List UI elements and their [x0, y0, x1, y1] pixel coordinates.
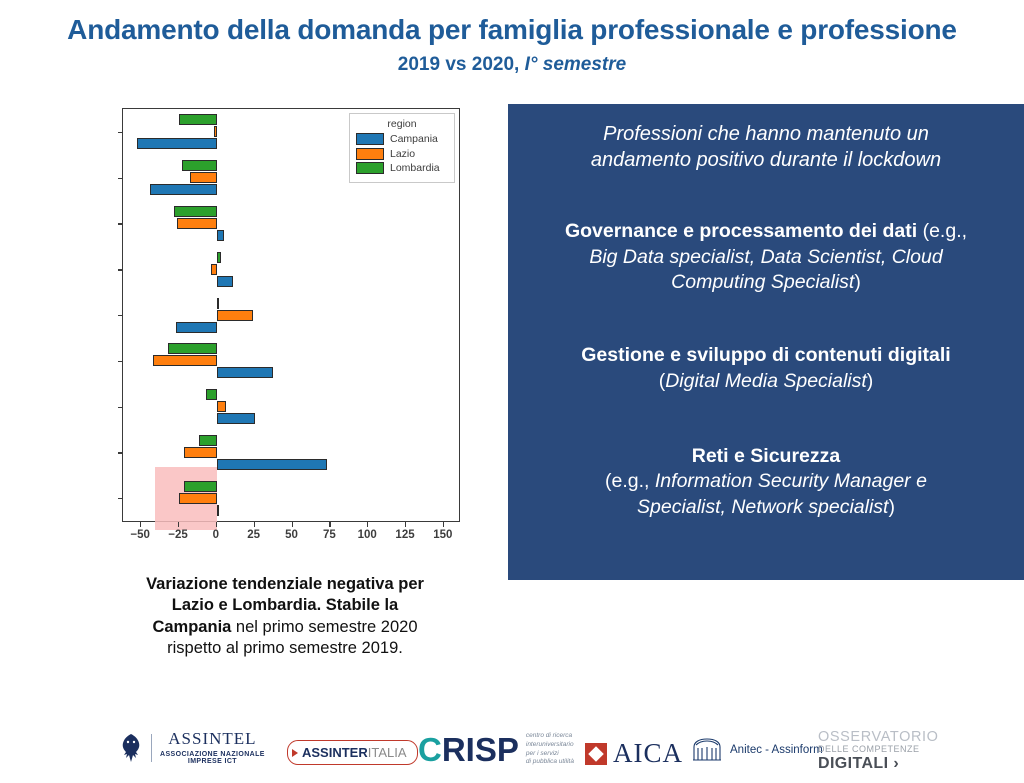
bar-campania [217, 230, 225, 241]
y-axis-tick [118, 315, 123, 316]
x-axis-label--50: −50 [130, 529, 150, 541]
crisp-sub1: centro di ricerca [526, 732, 574, 741]
bar-campania [217, 505, 219, 516]
panel-block-example-line1: Information Security Manager e [655, 470, 927, 492]
footer-logos: ASSINTEL ASSOCIAZIONE NAZIONALE IMPRESE … [0, 718, 1024, 783]
x-axis-label-150: 150 [433, 529, 452, 541]
bar-lazio [211, 264, 217, 275]
assintel-line2: ASSOCIAZIONE NAZIONALE [160, 751, 265, 758]
caption-line3-rest: nel primo semestre 2020 [231, 618, 417, 636]
assinter-bold: ASSINTER [302, 745, 368, 760]
eagle-icon [118, 733, 144, 763]
panel-lead-line1: Professioni che hanno mantenuto un [603, 123, 929, 145]
bar-lombardia [184, 481, 217, 492]
crisp-letters-risp: RISP [442, 733, 519, 766]
legend-item-campania: Campania [356, 133, 448, 145]
x-axis-label-100: 100 [358, 529, 377, 541]
logo-assintel: ASSINTEL ASSOCIAZIONE NAZIONALE IMPRESE … [118, 730, 265, 765]
panel-block-example-line2: Computing Specialist [671, 271, 854, 293]
chevron-right-icon: › [893, 755, 899, 772]
ocd-line3-text: DIGITALI [818, 755, 888, 772]
panel-block-paren-open: (e.g., [605, 470, 655, 492]
panel-block-example-line1: Big Data specialist, Data Scientist, Clo… [589, 246, 942, 268]
crisp-subtitle: centro di ricerca interuniversitario per… [526, 732, 574, 767]
bar-lazio [153, 355, 217, 366]
x-axis-label-25: 25 [247, 529, 260, 541]
x-axis-label-0: 0 [213, 529, 219, 541]
crisp-sub2: interuniversitario [526, 741, 574, 750]
logo-anitec-assinform: Anitec - Assinform [690, 736, 823, 764]
x-axis-label-125: 125 [395, 529, 414, 541]
logo-assinter-italia: ASSINTERITALIA [287, 740, 418, 765]
panel-lead: Professioni che hanno mantenuto un andam… [530, 122, 1002, 173]
caption-line2: Lazio e Lombardia. Stabile la [172, 596, 398, 614]
ocd-line2: DELLE COMPETENZE [818, 745, 939, 755]
assintel-line1: ASSINTEL [168, 729, 256, 748]
bar-lazio [190, 172, 217, 183]
legend-label-campania: Campania [390, 133, 438, 145]
y-axis-tick [118, 223, 123, 224]
legend-item-lombardia: Lombardia [356, 162, 448, 174]
bar-lazio [177, 218, 216, 229]
logo-divider [151, 734, 152, 762]
ocd-line1: OSSERVATORIO [818, 730, 939, 745]
legend-swatch-campania [356, 133, 384, 145]
legend-swatch-lombardia [356, 162, 384, 174]
panel-block-heading: Reti e Sicurezza [692, 445, 840, 467]
page-subtitle: 2019 vs 2020, I° semestre [0, 54, 1024, 76]
legend-item-lazio: Lazio [356, 148, 448, 160]
bar-lazio [179, 493, 217, 504]
highlight-panel: Professioni che hanno mantenuto un andam… [508, 104, 1024, 580]
caption-line4: rispetto al primo semestre 2019. [167, 639, 403, 657]
bar-lombardia [217, 252, 222, 263]
chart-caption: Variazione tendenziale negativa per Lazi… [70, 574, 500, 660]
bar-lombardia [199, 435, 217, 446]
legend-swatch-lazio [356, 148, 384, 160]
x-axis-label-50: 50 [285, 529, 298, 541]
bar-lombardia [217, 298, 219, 309]
anitec-wordmark: Anitec - Assinform [730, 744, 823, 756]
y-axis-tick [118, 407, 123, 408]
legend-title: region [356, 118, 448, 130]
x-axis-tick [178, 522, 179, 527]
logo-osservatorio-competenze-digitali: OSSERVATORIO DELLE COMPETENZE DIGITALI › [818, 730, 939, 773]
x-axis-tick [405, 522, 406, 527]
bar-lazio [214, 126, 217, 137]
x-axis-tick [254, 522, 255, 527]
panel-block-paren-open: (e.g., [917, 220, 967, 242]
bar-lombardia [174, 206, 216, 217]
logo-aica: AICA [585, 740, 683, 767]
assinter-light: ITALIA [368, 745, 407, 760]
bar-chart: BusinessDesignDevelopmentEmergingProcess… [0, 104, 500, 564]
crisp-sub3: per i servizi [526, 750, 574, 759]
panel-block-contenuti-digitali: Gestione e sviluppo di contenuti digital… [530, 343, 1002, 394]
legend-label-lombardia: Lombardia [390, 162, 440, 174]
subtitle-italic: I° semestre [525, 54, 627, 75]
bar-campania [176, 322, 217, 333]
panel-block-heading: Gestione e sviluppo di contenuti digital… [581, 344, 950, 366]
panel-block-heading: Governance e processamento dei dati [565, 220, 917, 242]
caption-line3-bold: Campania [152, 618, 231, 636]
bar-lazio [217, 401, 226, 412]
y-axis-tick [118, 361, 123, 362]
panel-block-paren-close: ) [867, 370, 874, 392]
x-axis-label-75: 75 [323, 529, 336, 541]
caption-line1: Variazione tendenziale negativa per [146, 575, 424, 593]
bar-lombardia [182, 160, 217, 171]
panel-block-paren-close: ) [888, 496, 895, 518]
assintel-wordmark: ASSINTEL ASSOCIAZIONE NAZIONALE IMPRESE … [160, 730, 265, 765]
bar-campania [150, 184, 217, 195]
bar-lombardia [168, 343, 216, 354]
bar-lombardia [179, 114, 217, 125]
aica-wordmark: AICA [613, 740, 683, 767]
x-axis-tick [367, 522, 368, 527]
y-axis-tick [118, 498, 123, 499]
x-axis-tick [140, 522, 141, 527]
bar-campania [217, 413, 255, 424]
y-axis-tick [118, 132, 123, 133]
bar-campania [217, 367, 273, 378]
bar-campania [217, 276, 234, 287]
bar-campania [217, 459, 327, 470]
plot-area: BusinessDesignDevelopmentEmergingProcess… [122, 108, 460, 522]
bar-lazio [184, 447, 217, 458]
bar-campania [137, 138, 217, 149]
ocd-line3: DIGITALI › [818, 755, 939, 773]
chart-legend: region Campania Lazio Lombardia [349, 113, 455, 183]
x-axis-tick [216, 522, 217, 527]
page-title: Andamento della domanda per famiglia pro… [0, 14, 1024, 46]
crisp-letter-c: C [418, 733, 442, 766]
y-axis-tick [118, 452, 123, 453]
bar-lazio [217, 310, 253, 321]
x-axis-tick [329, 522, 330, 527]
x-axis-tick [292, 522, 293, 527]
assintel-line3: IMPRESE ICT [160, 758, 265, 765]
panel-block-governance: Governance e processamento dei dati (e.g… [530, 219, 1002, 295]
subtitle-plain: 2019 vs 2020, [398, 54, 525, 75]
anitec-crest-icon [690, 736, 724, 764]
legend-label-lazio: Lazio [390, 148, 415, 160]
x-axis-tick [443, 522, 444, 527]
ocd-wordmark: OSSERVATORIO DELLE COMPETENZE DIGITALI › [818, 730, 939, 773]
x-axis: −50−250255075100125150 [122, 522, 460, 562]
y-axis-tick [118, 269, 123, 270]
y-axis-tick [118, 178, 123, 179]
panel-block-paren-close: ) [854, 271, 861, 293]
bar-lombardia [206, 389, 217, 400]
assinter-pill: ASSINTERITALIA [287, 740, 418, 765]
x-axis-label--25: −25 [168, 529, 188, 541]
panel-block-reti-sicurezza: Reti e Sicurezza (e.g., Information Secu… [530, 444, 1002, 520]
aica-diamond-icon [585, 743, 607, 765]
slide-header: Andamento della domanda per famiglia pro… [0, 0, 1024, 96]
crisp-sub4: di pubblica utilità [526, 758, 574, 767]
panel-lead-line2: andamento positivo durante il lockdown [591, 149, 941, 171]
panel-block-example-line1: Digital Media Specialist [665, 370, 867, 392]
logo-crisp: CRISP centro di ricerca interuniversitar… [418, 732, 574, 767]
panel-block-example-line2: Specialist, Network specialist [637, 496, 888, 518]
